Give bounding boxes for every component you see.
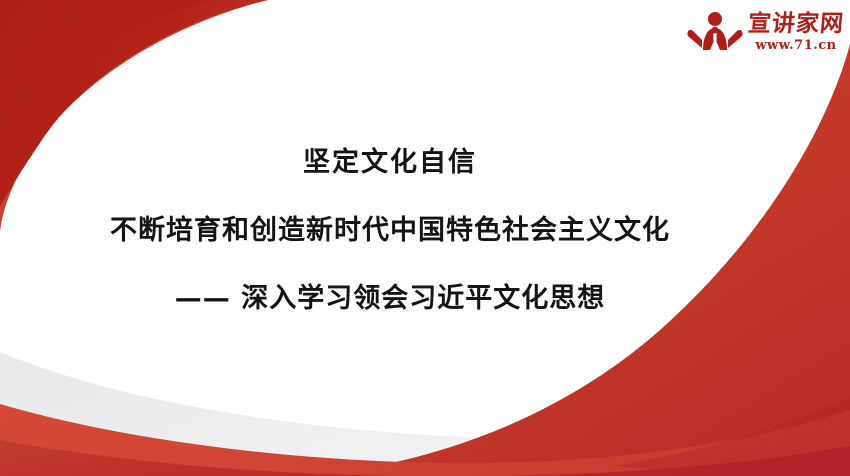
site-logo[interactable]: 宣讲家网 www.71.cn [686, 6, 842, 58]
logo-name-cn: 宣讲家网 [747, 12, 845, 35]
title-line-1: 坚定文化自信 [0, 140, 780, 179]
logo-url: www.71.cn [755, 39, 836, 52]
slide-title-block: 坚定文化自信 不断培育和创造新时代中国特色社会主义文化 —— 深入学习领会习近平… [0, 140, 780, 315]
title-line-3: —— 深入学习领会习近平文化思想 [0, 276, 780, 315]
presentation-slide: 宣讲家网 www.71.cn 坚定文化自信 不断培育和创造新时代中国特色社会主义… [0, 0, 850, 476]
title-line-2: 不断培育和创造新时代中国特色社会主义文化 [0, 208, 780, 247]
logo-text-group: 宣讲家网 www.71.cn [748, 12, 844, 52]
speaker-podium-icon [686, 10, 744, 54]
